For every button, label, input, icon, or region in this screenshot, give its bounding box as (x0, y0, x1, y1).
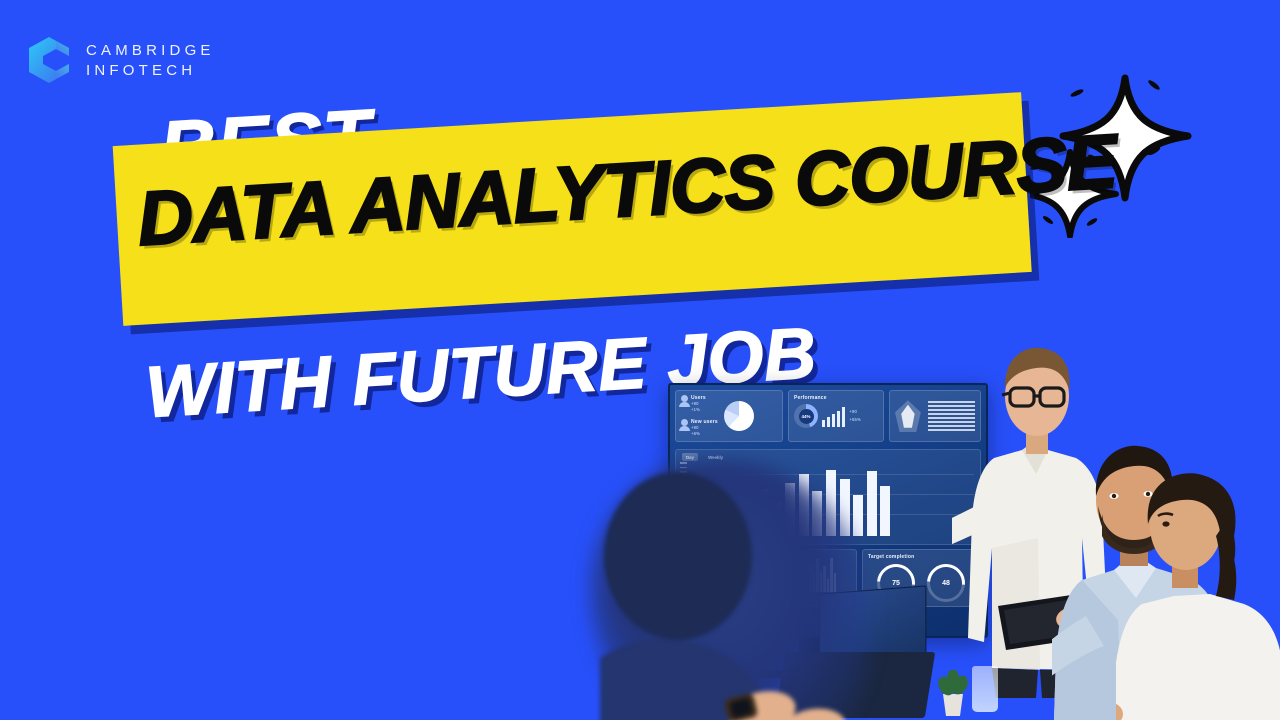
water-glass (972, 666, 998, 712)
performance-gauge-value: 44% (801, 414, 810, 419)
new-user-icon (681, 419, 688, 426)
thumbnail-canvas: CAMBRIDGE INFOTECH BEST (0, 0, 1280, 720)
performance-delta-2: +55% (849, 417, 861, 423)
foreground-head-and-hands (600, 460, 860, 720)
photo-scene: Users +90 +1% New users +90 +6% (620, 300, 1280, 720)
target-ring-2-value: 48 (942, 580, 950, 587)
target-ring-1-value: 75 (892, 580, 900, 587)
performance-gauge: 44% (794, 404, 818, 428)
seated-woman (1116, 470, 1280, 720)
users-widget[interactable]: Users +90 +1% New users +90 +6% (675, 390, 783, 442)
radar-chart-icon (895, 400, 921, 432)
performance-title: Performance (794, 395, 878, 401)
desk-plant (932, 670, 974, 716)
users-value-2: +1% (691, 407, 706, 413)
performance-delta-1: +90 (849, 409, 861, 415)
performance-widget[interactable]: Performance 44% +90 +55% (788, 390, 884, 442)
users-pie-chart (724, 401, 754, 431)
user-icon (681, 395, 688, 402)
performance-minibars (822, 405, 845, 427)
dashboard-top-row: Users +90 +1% New users +90 +6% (670, 385, 986, 447)
new-users-value-2: +6% (691, 431, 718, 437)
